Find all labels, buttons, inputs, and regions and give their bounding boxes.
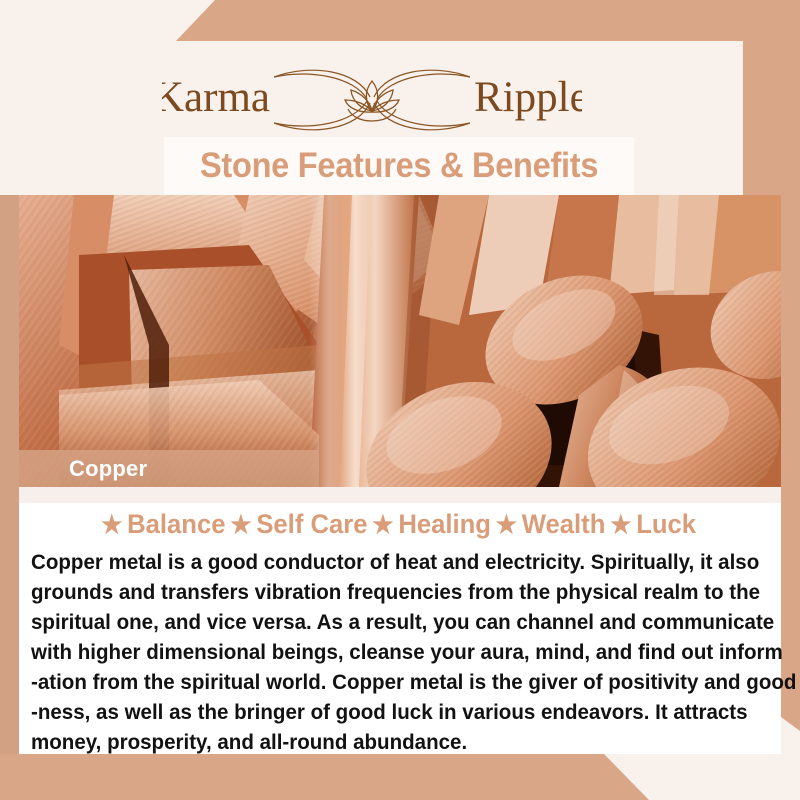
description-line: money, prosperity, and all-round abundan… <box>31 727 738 757</box>
benefit-label: Balance <box>123 509 229 539</box>
benefit-label: Healing <box>395 509 495 539</box>
top-tan-band <box>0 0 800 41</box>
benefit-star-icon: ★ <box>495 511 518 539</box>
benefit-star-icon: ★ <box>229 511 252 539</box>
hero-photo <box>19 195 781 487</box>
stone-name-text: Copper <box>19 456 147 482</box>
section-title-banner: Stone Features & Benefits <box>164 137 634 195</box>
benefit-star-icon: ★ <box>371 511 394 539</box>
description-line: -ation from the spiritual world. Copper … <box>31 667 738 697</box>
description-text: Copper metal is a good conductor of heat… <box>31 547 738 757</box>
infographic-canvas: Karma Ripple Stone Features & Benefits <box>0 0 800 800</box>
benefit-star-icon: ★ <box>100 511 123 539</box>
logo-svg: Karma Ripple <box>162 59 582 141</box>
left-tan-strip <box>0 195 19 800</box>
brand-name-left: Karma <box>162 74 270 121</box>
content-panel: ★Balance★Self Care★Healing★Wealth★Luck C… <box>19 487 781 754</box>
brand-name-right: Ripple <box>474 74 582 121</box>
benefit-label: Luck <box>632 509 699 539</box>
description-line: grounds and transfers vibration frequenc… <box>31 577 738 607</box>
description-line: spiritual one, and vice versa. As a resu… <box>31 607 738 637</box>
benefit-label: Self Care <box>253 509 372 539</box>
benefits-row: ★Balance★Self Care★Healing★Wealth★Luck <box>38 509 762 540</box>
bottom-tan-band <box>0 754 800 800</box>
description-line: -ness, as well as the bringer of good lu… <box>31 697 738 727</box>
page-title: Stone Features & Benefits <box>200 146 598 186</box>
panel-top-divider <box>19 487 781 503</box>
brand-logo: Karma Ripple <box>0 59 743 141</box>
lotus-icon <box>345 81 399 121</box>
stone-name-label: Copper <box>19 450 319 487</box>
benefit-label: Wealth <box>518 509 609 539</box>
description-line: Copper metal is a good conductor of heat… <box>31 547 738 577</box>
copper-bars-illustration <box>19 195 781 487</box>
description-line: with higher dimensional beings, cleanse … <box>31 637 738 667</box>
benefit-star-icon: ★ <box>609 511 632 539</box>
